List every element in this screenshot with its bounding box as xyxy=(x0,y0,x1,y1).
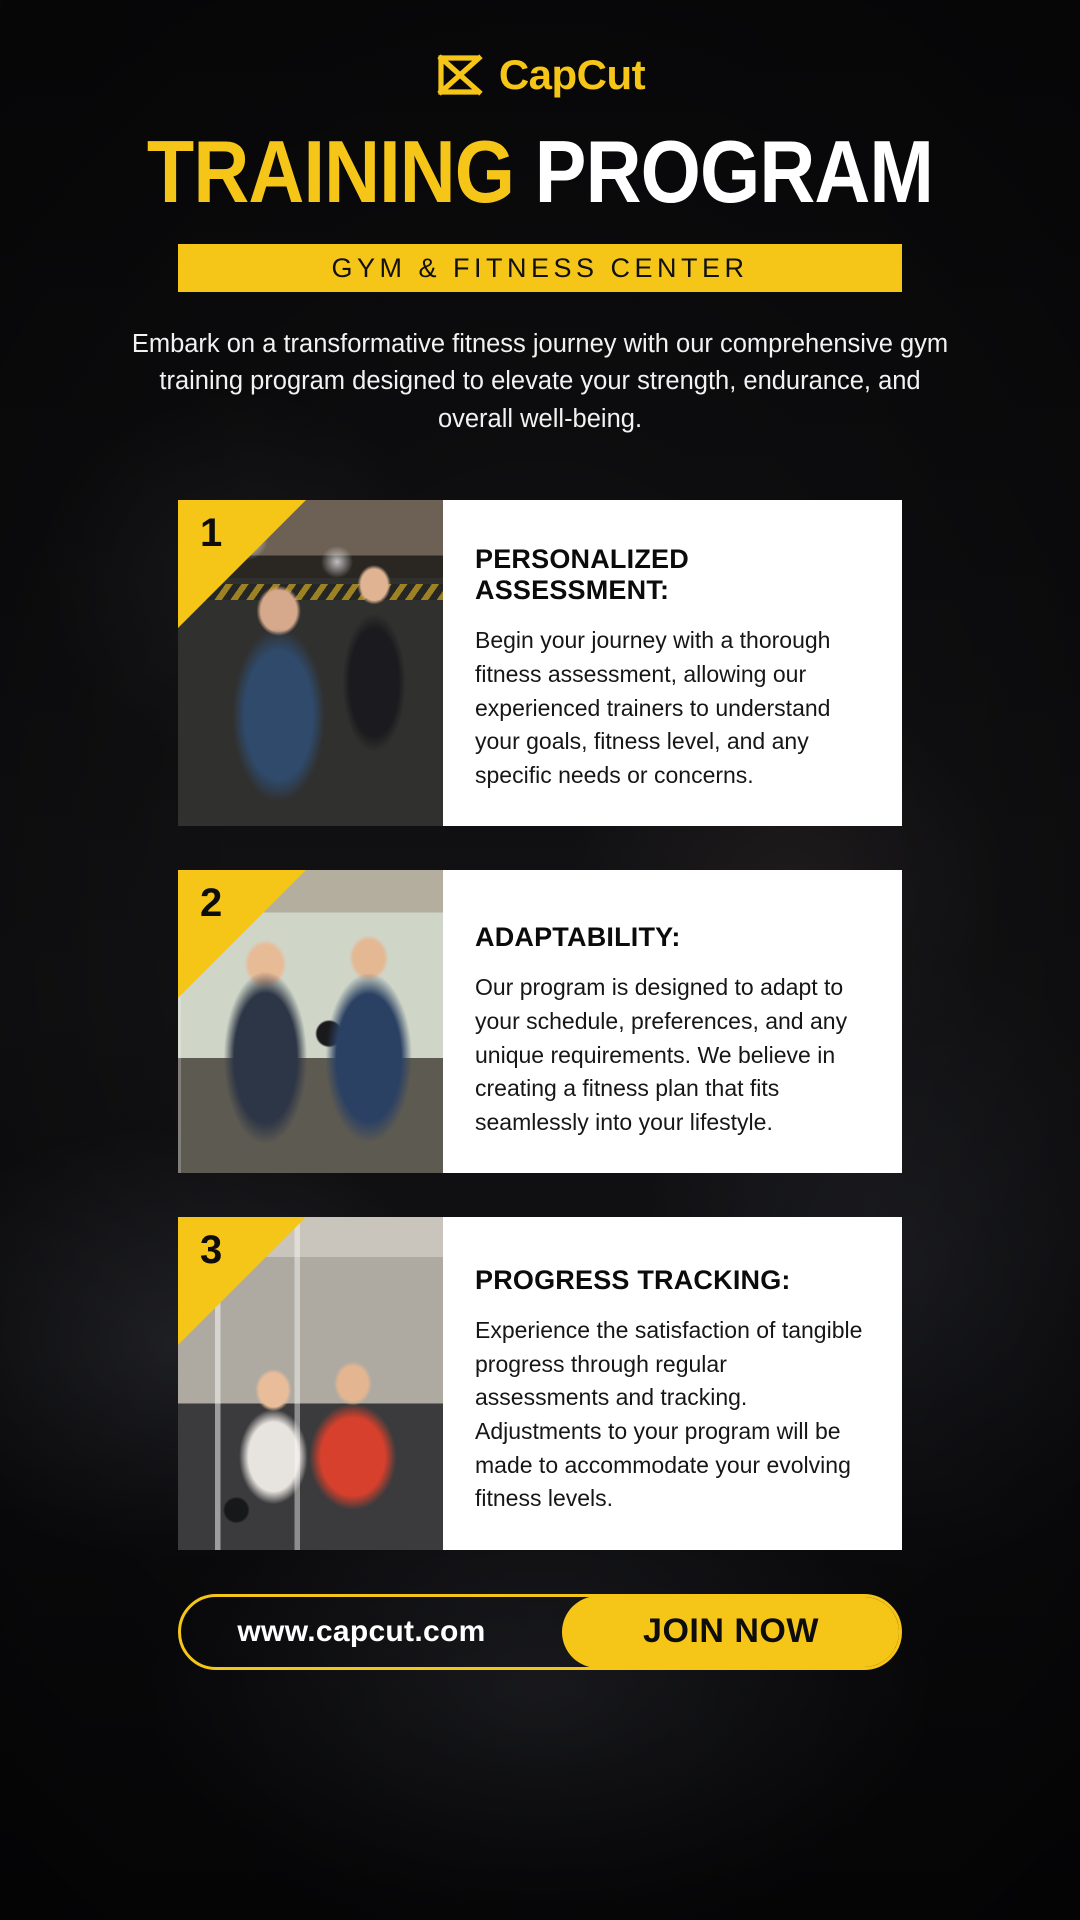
step-number: 2 xyxy=(200,883,222,923)
intro-paragraph: Embark on a transformative fitness journ… xyxy=(125,326,955,438)
step-card: 2 ADAPTABILITY: Our program is designed … xyxy=(178,870,902,1173)
step-image: 3 xyxy=(178,1217,443,1549)
step-description: Our program is designed to adapt to your… xyxy=(475,971,864,1139)
page-title: TRAINING PROGRAM xyxy=(65,128,1015,216)
step-content: ADAPTABILITY: Our program is designed to… xyxy=(443,870,902,1173)
infographic-poster: CapCut TRAINING PROGRAM GYM & FITNESS CE… xyxy=(0,0,1080,1920)
step-card: 3 PROGRESS TRACKING: Experience the sati… xyxy=(178,1217,902,1549)
step-title: PROGRESS TRACKING: xyxy=(475,1265,864,1296)
steps-list: 1 PERSONALIZED ASSESSMENT: Begin your jo… xyxy=(0,500,1080,1549)
website-url[interactable]: www.capcut.com xyxy=(181,1597,562,1667)
join-now-button[interactable]: JOIN NOW xyxy=(562,1596,900,1668)
step-image: 1 xyxy=(178,500,443,826)
step-image: 2 xyxy=(178,870,443,1173)
step-title: ADAPTABILITY: xyxy=(475,922,864,953)
title-word-training: TRAINING xyxy=(147,122,514,221)
step-title: PERSONALIZED ASSESSMENT: xyxy=(475,544,864,606)
title-word-program: PROGRAM xyxy=(535,122,933,221)
step-card: 1 PERSONALIZED ASSESSMENT: Begin your jo… xyxy=(178,500,902,826)
subtitle-bar-label: GYM & FITNESS CENTER xyxy=(331,253,748,284)
step-number: 1 xyxy=(200,513,222,553)
brand-logo: CapCut xyxy=(0,52,1080,98)
step-corner-badge xyxy=(178,500,306,628)
step-corner-badge xyxy=(178,870,306,998)
step-content: PROGRESS TRACKING: Experience the satisf… xyxy=(443,1217,902,1549)
footer-cta-bar: www.capcut.com JOIN NOW xyxy=(178,1594,902,1670)
step-description: Begin your journey with a thorough fitne… xyxy=(475,624,864,792)
subtitle-bar: GYM & FITNESS CENTER xyxy=(178,244,902,292)
step-corner-badge xyxy=(178,1217,306,1345)
brand-name: CapCut xyxy=(499,54,645,96)
capcut-logo-icon xyxy=(435,52,487,98)
step-description: Experience the satisfaction of tangible … xyxy=(475,1314,864,1515)
step-number: 3 xyxy=(200,1230,222,1270)
step-content: PERSONALIZED ASSESSMENT: Begin your jour… xyxy=(443,500,902,826)
